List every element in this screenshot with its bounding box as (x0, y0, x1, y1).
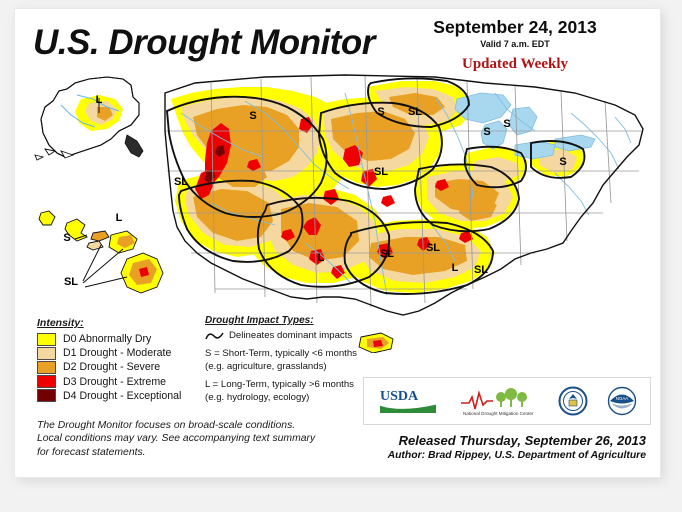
disclaimer-line-2: Local conditions may vary. See accompany… (37, 432, 367, 445)
intensity-legend-label: D3 Drought - Extreme (63, 376, 166, 388)
map-impact-label-l-11: L (452, 262, 459, 274)
map-area: SSLSSLSLSSSLSLSLLSLLSLSL (15, 53, 660, 353)
usda-logo: USDA (378, 386, 440, 416)
intensity-legend-item-d1: D1 Drought - Moderate (37, 346, 212, 360)
intensity-legend-heading: Intensity: (37, 317, 212, 329)
swatch-d3 (37, 375, 56, 388)
impact-long-term-label: L = Long-Term, typically >6 months (205, 379, 380, 391)
svg-text:USDA: USDA (380, 389, 419, 404)
map-impact-label-l-13: L (96, 94, 103, 106)
map-impact-label-sl-9: SL (380, 248, 394, 260)
map-impact-label-l-15: L (116, 212, 123, 224)
disclaimer-line-1: The Drought Monitor focuses on broad-sca… (37, 419, 367, 432)
map-impact-label-s-2: S (377, 106, 384, 118)
impact-long-term-note: (e.g. hydrology, ecology) (205, 392, 380, 404)
map-impact-label-sl-16: SL (64, 276, 78, 288)
intensity-legend: Intensity: D0 Abnormally DryD1 Drought -… (37, 317, 212, 403)
impact-delineation-row: Delineates dominant impacts (205, 330, 380, 342)
valid-time: Valid 7 a.m. EDT (384, 39, 646, 49)
swatch-d0 (37, 333, 56, 346)
impact-legend: Drought Impact Types: Delineates dominan… (205, 315, 380, 404)
impact-delineation-label: Delineates dominant impacts (229, 330, 352, 342)
map-impact-label-s-7: S (559, 156, 566, 168)
intensity-legend-item-d4: D4 Drought - Exceptional (37, 389, 212, 403)
intensity-legend-item-d0: D0 Abnormally Dry (37, 332, 212, 346)
intensity-legend-label: D4 Drought - Exceptional (63, 390, 181, 402)
svg-text:National Drought Mitigation Ce: National Drought Mitigation Center (463, 411, 534, 416)
swatch-d1 (37, 347, 56, 360)
drought-monitor-card: U.S. Drought Monitor September 24, 2013 … (14, 8, 661, 478)
intensity-legend-label: D0 Abnormally Dry (63, 333, 151, 345)
svg-text:NOAA: NOAA (615, 396, 628, 401)
map-date: September 24, 2013 (384, 17, 646, 38)
map-impact-label-sl-12: SL (474, 264, 488, 276)
alaska-inset (35, 77, 143, 160)
map-impact-label-l-8: L (318, 252, 325, 264)
impact-long-term-block: L = Long-Term, typically >6 months (e.g.… (205, 379, 380, 404)
logo-strip: USDA National Drought Mitigation Center (363, 377, 651, 425)
map-impact-label-sl-10: SL (426, 242, 440, 254)
swatch-d4 (37, 389, 56, 402)
map-impact-label-s-5: S (483, 126, 490, 138)
map-impact-label-sl-4: SL (374, 166, 388, 178)
intensity-legend-item-d3: D3 Drought - Extreme (37, 375, 212, 389)
ndmc-logo: National Drought Mitigation Center (459, 385, 539, 417)
noaa-logo: NOAA (607, 386, 637, 416)
drought-monitor-image: U.S. Drought Monitor September 24, 2013 … (0, 0, 682, 512)
map-impact-label-sl-1: SL (174, 176, 188, 188)
impact-short-term-block: S = Short-Term, typically <6 months (e.g… (205, 348, 380, 373)
map-impact-label-s-6: S (503, 118, 510, 130)
disclaimer-line-3: for forecast statements. (37, 446, 367, 459)
impact-short-term-note: (e.g. agriculture, grasslands) (205, 361, 380, 373)
intensity-legend-rows: D0 Abnormally DryD1 Drought - ModerateD2… (37, 332, 212, 403)
impact-short-term-label: S = Short-Term, typically <6 months (205, 348, 380, 360)
intensity-legend-label: D1 Drought - Moderate (63, 347, 171, 359)
squiggle-icon (205, 330, 225, 342)
drought-map-svg: SSLSSLSLSSSLSLSLLSLLSLSL (15, 53, 660, 353)
usdc-seal (558, 386, 588, 416)
map-impact-label-sl-3: SL (408, 106, 422, 118)
release-info: Released Thursday, September 26, 2013 Au… (326, 433, 646, 461)
release-author: Author: Brad Rippey, U.S. Department of … (326, 450, 646, 461)
swatch-d2 (37, 361, 56, 374)
disclaimer: The Drought Monitor focuses on broad-sca… (37, 419, 367, 459)
map-impact-label-s-0: S (249, 110, 256, 122)
impact-legend-heading: Drought Impact Types: (205, 315, 380, 326)
intensity-legend-label: D2 Drought - Severe (63, 361, 160, 373)
intensity-legend-item-d2: D2 Drought - Severe (37, 360, 212, 374)
map-impact-label-s-14: S (63, 232, 70, 244)
release-date: Released Thursday, September 26, 2013 (326, 433, 646, 448)
